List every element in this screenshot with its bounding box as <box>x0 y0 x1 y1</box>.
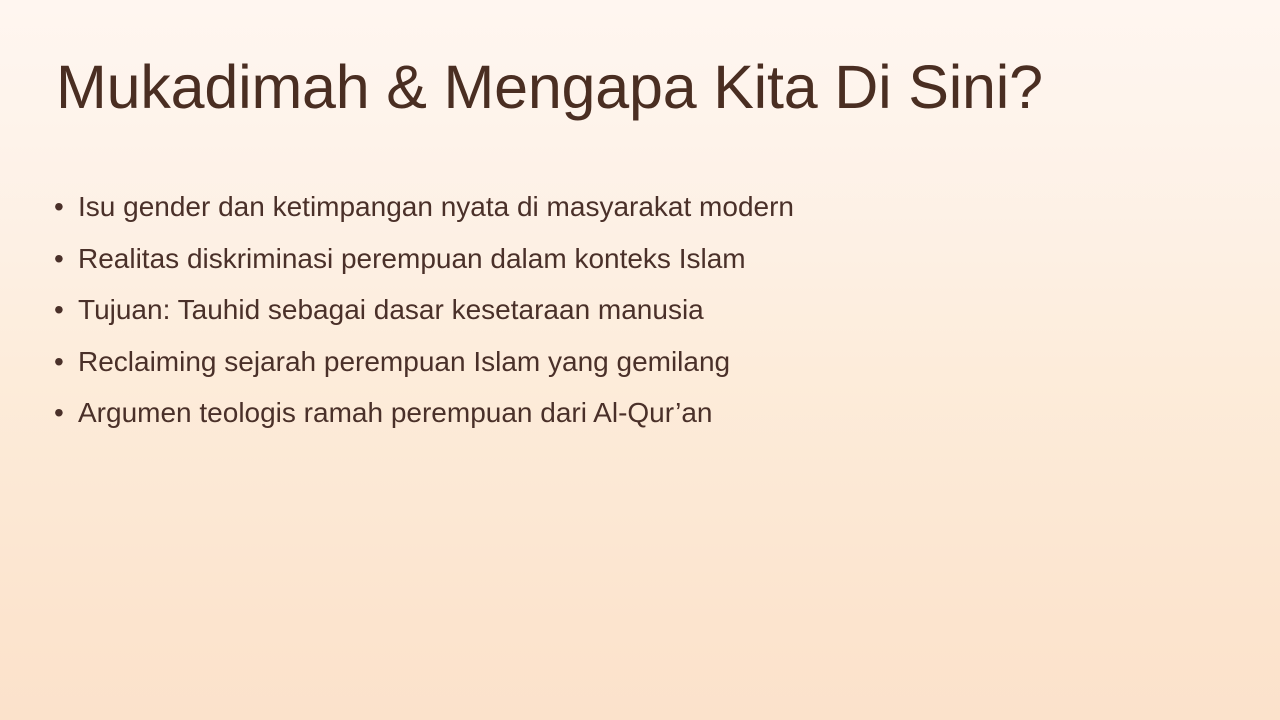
slide-title: Mukadimah & Mengapa Kita Di Sini? <box>56 52 1156 123</box>
list-item-label: Isu gender dan ketimpangan nyata di masy… <box>78 188 794 226</box>
bullet-point-icon: • <box>54 394 78 432</box>
list-item: • Reclaiming sejarah perempuan Islam yan… <box>54 343 1204 395</box>
list-item: • Argumen teologis ramah perempuan dari … <box>54 394 1204 446</box>
list-item: • Tujuan: Tauhid sebagai dasar kesetaraa… <box>54 291 1204 343</box>
list-item: • Isu gender dan ketimpangan nyata di ma… <box>54 188 1204 240</box>
bullet-point-icon: • <box>54 343 78 381</box>
presentation-slide: Mukadimah & Mengapa Kita Di Sini? • Isu … <box>0 0 1280 720</box>
bullet-point-icon: • <box>54 291 78 329</box>
list-item: • Realitas diskriminasi perempuan dalam … <box>54 240 1204 292</box>
bullet-list: • Isu gender dan ketimpangan nyata di ma… <box>54 188 1204 446</box>
bullet-point-icon: • <box>54 240 78 278</box>
list-item-label: Argumen teologis ramah perempuan dari Al… <box>78 394 712 432</box>
list-item-label: Reclaiming sejarah perempuan Islam yang … <box>78 343 730 381</box>
bullet-point-icon: • <box>54 188 78 226</box>
list-item-label: Realitas diskriminasi perempuan dalam ko… <box>78 240 746 278</box>
list-item-label: Tujuan: Tauhid sebagai dasar kesetaraan … <box>78 291 704 329</box>
